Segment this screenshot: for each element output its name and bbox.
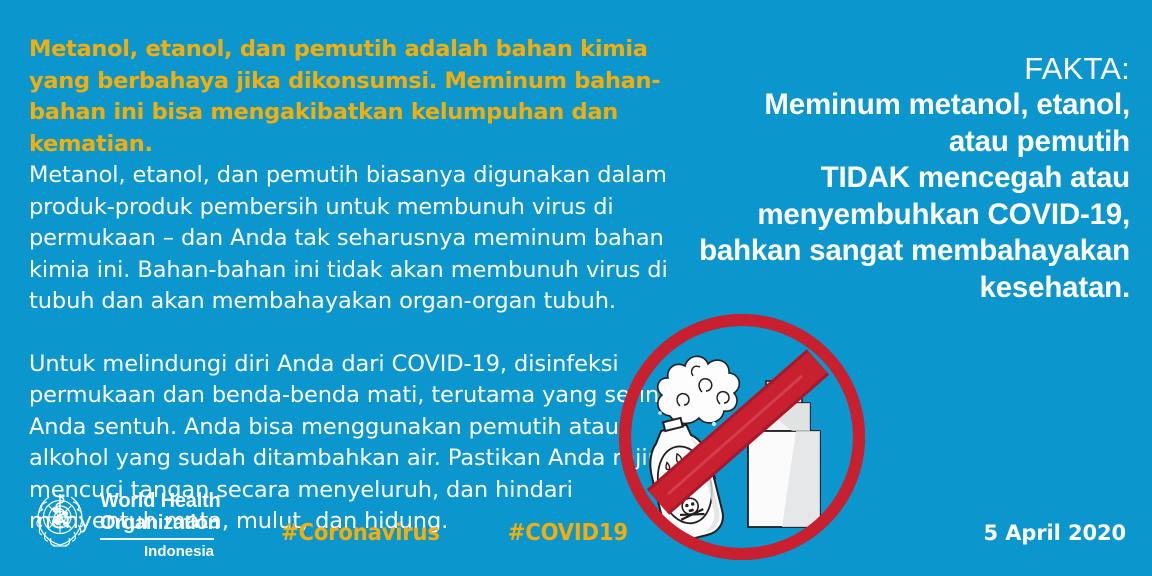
who-divider-rule (100, 538, 214, 540)
who-country-label: Indonesia (100, 543, 214, 560)
no-drinking-bleach-illustration: BLEACH (596, 306, 888, 572)
headline-line-3: TIDAK mencegah atau (660, 160, 1130, 197)
left-text-column: Metanol, etanol, dan pemutih adalah baha… (29, 34, 674, 538)
date-stamp: 5 April 2020 (983, 521, 1126, 545)
headline-line-2: atau pemutih (660, 124, 1130, 161)
headline-line-4: menyembuhkan COVID-19, (660, 197, 1130, 234)
hashtag-covid19[interactable]: #COVID19 (508, 519, 628, 545)
headline-line-5: bahkan sangat membahayakan (660, 233, 1130, 270)
prohibition-circle-with-diagonal-bar (620, 315, 864, 559)
hashtag-group: #Coronavirus #COVID19 (281, 519, 628, 545)
who-word-line-2: Organization (100, 512, 221, 534)
who-logo: World Health Organization Indonesia (29, 487, 221, 557)
who-mythbuster-poster: Metanol, etanol, dan pemutih adalah baha… (0, 0, 1152, 576)
body-paragraph-1: Metanol, etanol, dan pemutih biasanya di… (29, 160, 674, 318)
lead-paragraph: Metanol, etanol, dan pemutih adalah baha… (29, 34, 674, 160)
hashtag-coronavirus[interactable]: #Coronavirus (281, 519, 440, 545)
headline-line-1: Meminum metanol, etanol, (660, 87, 1130, 124)
paragraph-spacer (29, 318, 674, 349)
fact-headline: FAKTA: Meminum metanol, etanol, atau pem… (660, 50, 1130, 306)
headline-line-6: kesehatan. (660, 270, 1130, 307)
headline-label: FAKTA: (660, 50, 1130, 87)
who-emblem-icon (29, 489, 91, 551)
who-word-line-1: World Health (100, 490, 221, 512)
who-wordmark: World Health Organization Indonesia (100, 487, 221, 560)
